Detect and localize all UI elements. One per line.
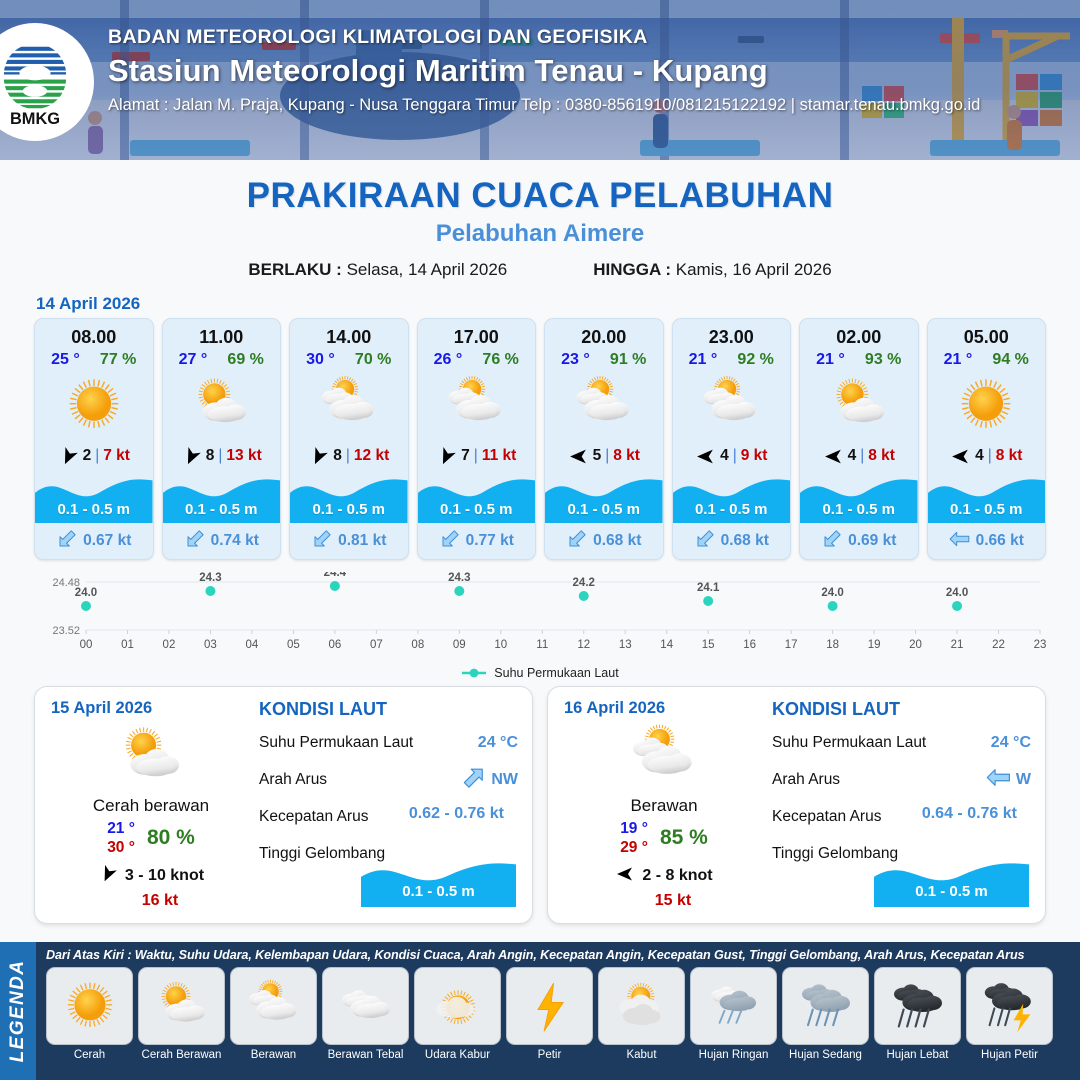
current-direction-value: NW xyxy=(461,767,518,793)
bmkg-logo-mark: BMKG xyxy=(0,36,76,128)
current-direction-arrow-icon xyxy=(439,530,461,553)
air-temperature: 21 ° xyxy=(816,351,845,369)
chart-legend-label: Suhu Permukaan Laut xyxy=(494,666,618,680)
current-direction-arrow-icon xyxy=(986,767,1012,793)
sea-condition-heading: KONDISI LAUT xyxy=(772,699,1031,720)
weather-condition: Cerah berawan xyxy=(51,796,251,816)
agency-name: BADAN METEOROLOGI KLIMATOLOGI DAN GEOFIS… xyxy=(108,26,980,49)
current-speed: 0.77 kt xyxy=(466,532,514,550)
sst-chart: 24.4823.52000102030405060708091011121314… xyxy=(0,572,1080,682)
daily-forecast-panel: 15 April 2026 Cerah berawan 21 ° 30 ° 80 xyxy=(34,686,533,924)
weather-cerah-berawan-icon xyxy=(138,967,225,1045)
humidity: 85 % xyxy=(660,826,708,850)
gust-speed: 9 kt xyxy=(741,447,768,465)
current-direction-arrow-icon xyxy=(566,530,588,553)
svg-text:00: 00 xyxy=(80,639,93,651)
current-direction-arrow-icon xyxy=(311,530,333,553)
wave-height: 0.1 - 0.5 m xyxy=(545,501,663,518)
humidity: 80 % xyxy=(147,826,195,850)
sst-label: Suhu Permukaan Laut xyxy=(259,734,478,752)
gust-speed: 13 kt xyxy=(226,447,261,465)
wave-height-block: 0.1 - 0.5 m xyxy=(361,855,516,907)
current-speed: 0.66 kt xyxy=(976,532,1024,550)
forecast-card-list: 08.00 25 ° 77 % 2 | 7 kt 0.1 - 0.5 m xyxy=(0,318,1080,560)
wind-separator: | xyxy=(733,447,737,465)
svg-text:23: 23 xyxy=(1034,639,1046,651)
wave-height: 0.1 - 0.5 m xyxy=(928,501,1046,518)
wind-speed: 5 xyxy=(593,447,602,465)
wind-speed: 4 xyxy=(975,447,984,465)
wind-direction-arrow-icon xyxy=(950,446,971,467)
gust-speed: 8 kt xyxy=(996,447,1023,465)
sea-condition-heading: KONDISI LAUT xyxy=(259,699,518,720)
weather-cerah-icon xyxy=(46,967,133,1045)
wave-height: 0.1 - 0.5 m xyxy=(35,501,153,518)
weather-berawan-icon xyxy=(230,967,317,1045)
legend-item: Cerah Berawan xyxy=(138,967,225,1061)
svg-text:20: 20 xyxy=(909,639,922,651)
forecast-card: 14.00 30 ° 70 % 8 | xyxy=(289,318,409,560)
gust-speed: 8 kt xyxy=(613,447,640,465)
temp-max: 29 ° xyxy=(620,838,648,857)
wind-direction-arrow-icon xyxy=(436,446,457,467)
weather-cerah-berawan-icon xyxy=(163,369,281,441)
wave-height-block: 0.1 - 0.5 m xyxy=(874,855,1029,907)
current-direction-value: W xyxy=(986,767,1031,793)
title-block: PRAKIRAAN CUACA PELABUHAN Pelabuhan Aime… xyxy=(0,160,1080,280)
weather-petir-icon xyxy=(506,967,593,1045)
wind-speed: 7 xyxy=(461,447,470,465)
daily-date: 15 April 2026 xyxy=(51,699,251,718)
wind-direction-arrow-icon xyxy=(615,864,635,889)
svg-text:14: 14 xyxy=(660,639,673,651)
legend-item: Berawan Tebal xyxy=(322,967,409,1061)
air-temperature: 26 ° xyxy=(434,351,463,369)
gust-speed: 7 kt xyxy=(103,447,130,465)
sst-label: Suhu Permukaan Laut xyxy=(772,734,991,752)
humidity: 94 % xyxy=(992,351,1028,369)
weather-cerah-berawan-icon xyxy=(51,720,251,794)
legend-item-label: Cerah xyxy=(46,1049,133,1061)
forecast-time: 17.00 xyxy=(418,319,536,348)
forecast-time: 14.00 xyxy=(290,319,408,348)
legend-item-list: Cerah Cerah Berawan xyxy=(46,967,1072,1061)
svg-text:17: 17 xyxy=(785,639,798,651)
current-speed: 0.67 kt xyxy=(83,532,131,550)
chart-legend-marker-icon xyxy=(461,667,487,679)
svg-text:24.1: 24.1 xyxy=(697,582,720,594)
weather-cerah-icon xyxy=(35,369,153,441)
svg-text:09: 09 xyxy=(453,639,466,651)
legend-item-label: Petir xyxy=(506,1049,593,1061)
current-speed: 0.81 kt xyxy=(338,532,386,550)
bmkg-logo-text: BMKG xyxy=(10,110,60,128)
weather-berawan-icon xyxy=(418,369,536,441)
forecast-date-label: 14 April 2026 xyxy=(36,294,1080,314)
legend-item: Berawan xyxy=(230,967,317,1061)
wave-height-block: 0.1 - 0.5 m xyxy=(928,471,1046,523)
wind-direction-arrow-icon xyxy=(181,446,202,467)
current-direction-arrow-icon xyxy=(461,767,487,793)
wind-direction-arrow-icon xyxy=(58,446,79,467)
valid-until-value: Kamis, 16 April 2026 xyxy=(676,260,832,279)
valid-from-value: Selasa, 14 April 2026 xyxy=(347,260,508,279)
svg-text:07: 07 xyxy=(370,639,383,651)
weather-hujan-lebat-icon xyxy=(874,967,961,1045)
wave-height-block: 0.1 - 0.5 m xyxy=(35,471,153,523)
legend-note: Dari Atas Kiri : Waktu, Suhu Udara, Kele… xyxy=(46,948,1072,962)
wind-speed: 4 xyxy=(720,447,729,465)
weather-berawan-tebal-icon xyxy=(322,967,409,1045)
air-temperature: 21 ° xyxy=(944,351,973,369)
wind-separator: | xyxy=(474,447,478,465)
air-temperature: 27 ° xyxy=(179,351,208,369)
current-speed: 0.74 kt xyxy=(211,532,259,550)
air-temperature: 23 ° xyxy=(561,351,590,369)
legend-item-label: Berawan Tebal xyxy=(322,1049,409,1061)
wind-separator: | xyxy=(988,447,992,465)
forecast-card: 05.00 21 ° 94 % 4 | 8 kt 0.1 - 0.5 m xyxy=(927,318,1047,560)
svg-text:05: 05 xyxy=(287,639,300,651)
forecast-card: 08.00 25 ° 77 % 2 | 7 kt 0.1 - 0.5 m xyxy=(34,318,154,560)
legend-item: Petir xyxy=(506,967,593,1061)
current-direction-text: NW xyxy=(491,771,518,789)
gust-speed: 8 kt xyxy=(868,447,895,465)
forecast-time: 02.00 xyxy=(800,319,918,348)
daily-date: 16 April 2026 xyxy=(564,699,764,718)
station-name: Stasiun Meteorologi Maritim Tenau - Kupa… xyxy=(108,53,980,89)
legend-item: Udara Kabur xyxy=(414,967,501,1061)
wave-height: 0.1 - 0.5 m xyxy=(163,501,281,518)
wave-height-block: 0.1 - 0.5 m xyxy=(545,471,663,523)
wind-speed: 4 xyxy=(848,447,857,465)
wave-height: 0.1 - 0.5 m xyxy=(800,501,918,518)
wave-height-block: 0.1 - 0.5 m xyxy=(418,471,536,523)
svg-text:08: 08 xyxy=(411,639,424,651)
weather-kabut-icon xyxy=(598,967,685,1045)
svg-text:10: 10 xyxy=(494,639,507,651)
legend-item: Hujan Lebat xyxy=(874,967,961,1061)
wind-speed: 8 xyxy=(206,447,215,465)
port-name: Pelabuhan Aimere xyxy=(0,220,1080,248)
weather-berawan-icon xyxy=(564,720,764,794)
svg-text:24.2: 24.2 xyxy=(573,577,595,589)
legend-item: Hujan Petir xyxy=(966,967,1053,1061)
legend-item: Hujan Sedang xyxy=(782,967,869,1061)
forecast-card: 02.00 21 ° 93 % 4 | 8 kt xyxy=(799,318,919,560)
svg-text:21: 21 xyxy=(951,639,964,651)
current-direction-arrow-icon xyxy=(694,530,716,553)
current-direction-label: Arah Arus xyxy=(772,771,986,789)
forecast-card: 23.00 21 ° 92 % 4 | xyxy=(672,318,792,560)
wind-direction-arrow-icon xyxy=(695,446,716,467)
legend-item-label: Hujan Lebat xyxy=(874,1049,961,1061)
page-title: PRAKIRAAN CUACA PELABUHAN xyxy=(0,176,1080,216)
forecast-time: 08.00 xyxy=(35,319,153,348)
sst-value: 24 °C xyxy=(478,734,518,752)
legend-item-label: Kabut xyxy=(598,1049,685,1061)
current-speed-value: 0.62 - 0.76 kt xyxy=(409,805,504,823)
weather-udara-kabur-icon xyxy=(414,967,501,1045)
svg-text:24.0: 24.0 xyxy=(946,587,968,599)
wind-separator: | xyxy=(95,447,99,465)
wind-separator: | xyxy=(605,447,609,465)
svg-text:01: 01 xyxy=(121,639,134,651)
forecast-card: 17.00 26 ° 76 % 7 | xyxy=(417,318,537,560)
legend-item: Cerah xyxy=(46,967,133,1061)
current-speed: 0.69 kt xyxy=(848,532,896,550)
svg-text:12: 12 xyxy=(577,639,590,651)
temp-min: 19 ° xyxy=(620,819,648,838)
wave-height: 0.1 - 0.5 m xyxy=(418,501,536,518)
current-direction-arrow-icon xyxy=(949,530,971,553)
station-address: Alamat : Jalan M. Praja, Kupang - Nusa T… xyxy=(108,96,980,115)
current-speed-value: 0.64 - 0.76 kt xyxy=(922,805,1017,823)
wind-direction-arrow-icon xyxy=(98,864,118,889)
svg-text:24.3: 24.3 xyxy=(199,572,221,584)
legend-item: Kabut xyxy=(598,967,685,1061)
current-direction-arrow-icon xyxy=(184,530,206,553)
humidity: 92 % xyxy=(737,351,773,369)
weather-cerah-berawan-icon xyxy=(800,369,918,441)
svg-text:18: 18 xyxy=(826,639,839,651)
forecast-card: 20.00 23 ° 91 % 5 | xyxy=(544,318,664,560)
current-speed: 0.68 kt xyxy=(593,532,641,550)
legend-side-title-text: LEGENDA xyxy=(7,960,29,1063)
gust-speed: 12 kt xyxy=(354,447,389,465)
legend-item-label: Hujan Sedang xyxy=(782,1049,869,1061)
weather-hujan-ringan-icon xyxy=(690,967,777,1045)
wave-height: 0.1 - 0.5 m xyxy=(673,501,791,518)
wind-direction-arrow-icon xyxy=(308,446,329,467)
svg-text:15: 15 xyxy=(702,639,715,651)
valid-from-label: BERLAKU : xyxy=(248,260,342,279)
temp-min: 21 ° xyxy=(107,819,135,838)
legend-side-title: LEGENDA xyxy=(0,942,36,1080)
valid-until-label: HINGGA : xyxy=(593,260,671,279)
svg-text:03: 03 xyxy=(204,639,217,651)
wind-direction-arrow-icon xyxy=(568,446,589,467)
air-temperature: 25 ° xyxy=(51,351,80,369)
svg-text:24.4: 24.4 xyxy=(324,572,347,579)
gust-speed: 11 kt xyxy=(482,447,516,465)
wind-separator: | xyxy=(860,447,864,465)
wind-separator: | xyxy=(218,447,222,465)
wind-separator: | xyxy=(346,447,350,465)
weather-cerah-icon xyxy=(928,369,1046,441)
gust-speed: 16 kt xyxy=(51,892,251,910)
wind-speed-range: 2 - 8 knot xyxy=(642,867,712,885)
svg-text:24.0: 24.0 xyxy=(821,587,843,599)
wave-height-value: 0.1 - 0.5 m xyxy=(874,883,1029,900)
forecast-time: 05.00 xyxy=(928,319,1046,348)
current-speed: 0.68 kt xyxy=(721,532,769,550)
svg-text:24.0: 24.0 xyxy=(75,587,97,599)
humidity: 76 % xyxy=(482,351,518,369)
current-direction-label: Arah Arus xyxy=(259,771,461,789)
wave-height-block: 0.1 - 0.5 m xyxy=(800,471,918,523)
wind-speed-range: 3 - 10 knot xyxy=(125,867,204,885)
humidity: 91 % xyxy=(610,351,646,369)
valid-until: HINGGA : Kamis, 16 April 2026 xyxy=(593,260,831,280)
daily-forecast-panels: 15 April 2026 Cerah berawan 21 ° 30 ° 80 xyxy=(0,682,1080,924)
wave-height: 0.1 - 0.5 m xyxy=(290,501,408,518)
sst-chart-plot: 24.4823.52000102030405060708091011121314… xyxy=(34,572,1046,664)
page-header: BMKG BADAN METEOROLOGI KLIMATOLOGI DAN G… xyxy=(0,0,1080,160)
current-direction-arrow-icon xyxy=(821,530,843,553)
wave-height-block: 0.1 - 0.5 m xyxy=(163,471,281,523)
svg-text:04: 04 xyxy=(246,639,259,651)
weather-hujan-petir-icon xyxy=(966,967,1053,1045)
wind-speed: 2 xyxy=(83,447,92,465)
legend-item-label: Udara Kabur xyxy=(414,1049,501,1061)
wave-height-block: 0.1 - 0.5 m xyxy=(290,471,408,523)
forecast-time: 23.00 xyxy=(673,319,791,348)
sst-value: 24 °C xyxy=(991,734,1031,752)
forecast-time: 20.00 xyxy=(545,319,663,348)
humidity: 77 % xyxy=(100,351,136,369)
wave-height-value: 0.1 - 0.5 m xyxy=(361,883,516,900)
weather-berawan-icon xyxy=(545,369,663,441)
temp-max: 30 ° xyxy=(107,838,135,857)
air-temperature: 30 ° xyxy=(306,351,335,369)
wind-speed: 8 xyxy=(333,447,342,465)
wind-direction-arrow-icon xyxy=(823,446,844,467)
gust-speed: 15 kt xyxy=(564,892,764,910)
valid-from: BERLAKU : Selasa, 14 April 2026 xyxy=(248,260,507,280)
wave-height-block: 0.1 - 0.5 m xyxy=(673,471,791,523)
legend-item-label: Hujan Ringan xyxy=(690,1049,777,1061)
legend-item-label: Cerah Berawan xyxy=(138,1049,225,1061)
weather-berawan-icon xyxy=(290,369,408,441)
humidity: 70 % xyxy=(355,351,391,369)
svg-text:02: 02 xyxy=(163,639,176,651)
legend-item-label: Berawan xyxy=(230,1049,317,1061)
validity-range: BERLAKU : Selasa, 14 April 2026 HINGGA :… xyxy=(0,260,1080,280)
svg-text:16: 16 xyxy=(743,639,756,651)
svg-text:06: 06 xyxy=(328,639,341,651)
svg-text:11: 11 xyxy=(536,639,548,651)
humidity: 93 % xyxy=(865,351,901,369)
svg-text:13: 13 xyxy=(619,639,632,651)
svg-text:22: 22 xyxy=(992,639,1005,651)
legend-item: Hujan Ringan xyxy=(690,967,777,1061)
weather-berawan-icon xyxy=(673,369,791,441)
legend-item-label: Hujan Petir xyxy=(966,1049,1053,1061)
legend-bar: LEGENDA Dari Atas Kiri : Waktu, Suhu Uda… xyxy=(0,942,1080,1080)
current-direction-arrow-icon xyxy=(56,530,78,553)
air-temperature: 21 ° xyxy=(689,351,718,369)
forecast-card: 11.00 27 ° 69 % 8 | 13 kt xyxy=(162,318,282,560)
svg-text:24.3: 24.3 xyxy=(448,572,470,584)
forecast-time: 11.00 xyxy=(163,319,281,348)
humidity: 69 % xyxy=(227,351,263,369)
chart-legend: Suhu Permukaan Laut xyxy=(34,666,1046,680)
weather-condition: Berawan xyxy=(564,796,764,816)
current-direction-text: W xyxy=(1016,771,1031,789)
daily-forecast-panel: 16 April 2026 Berawan 19 ° 29 ° xyxy=(547,686,1046,924)
svg-text:19: 19 xyxy=(868,639,881,651)
svg-text:23.52: 23.52 xyxy=(52,625,80,637)
weather-hujan-sedang-icon xyxy=(782,967,869,1045)
